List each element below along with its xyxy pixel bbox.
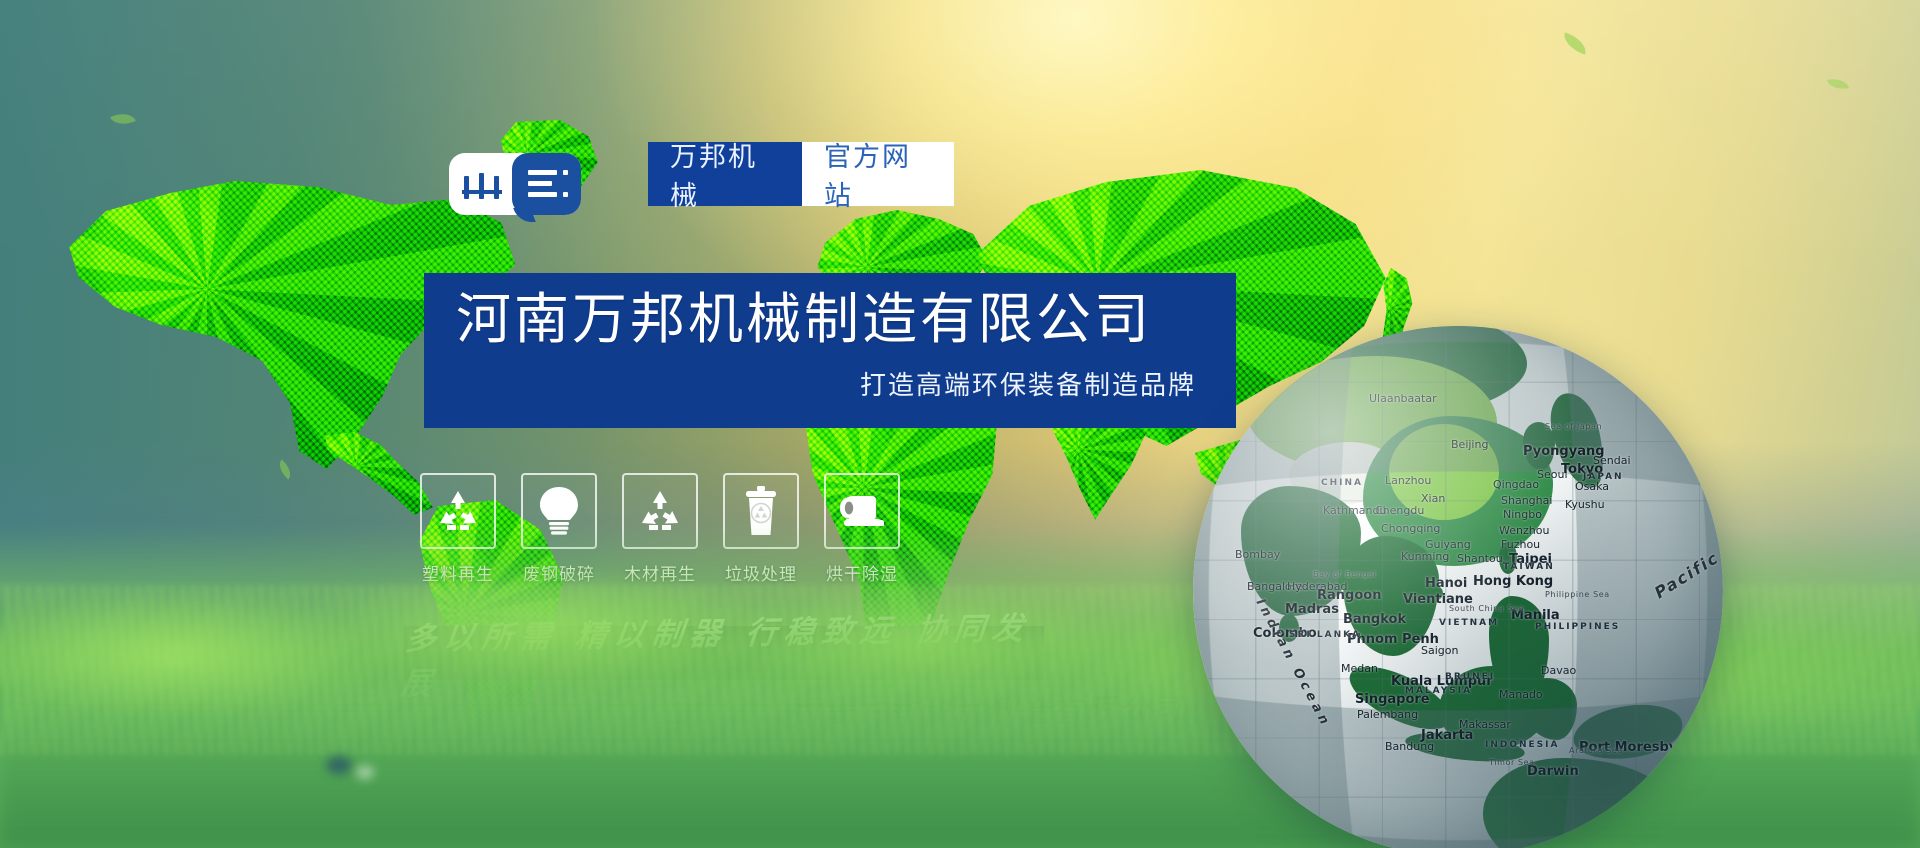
globe-city-label: Fuzhou <box>1501 538 1540 551</box>
logo-w-icon <box>462 172 502 199</box>
globe-country-label: CHINA <box>1321 478 1363 488</box>
globe-sea-label: Arafura Sea <box>1569 746 1623 755</box>
globe-city-label: Shanghai <box>1501 494 1552 507</box>
globe-country-label: SRI LANKA <box>1289 630 1361 640</box>
globe-city-label: Lanzhou <box>1385 474 1431 487</box>
globe-country-label: TAIWAN <box>1503 562 1555 572</box>
globe-city-label: Xian <box>1421 492 1445 505</box>
bokeh-dot <box>356 766 374 779</box>
globe-city-label: Hanoi <box>1425 576 1467 591</box>
globe-sea-label: Timor Sea <box>1489 758 1535 767</box>
globe-city-label: Madras <box>1285 602 1339 617</box>
hero-banner: 万邦机械 官方网站 河南万邦机械制造有限公司 打造高端环保装备制造品牌 <box>0 0 1920 848</box>
globe-city-label: Bombay <box>1235 548 1280 561</box>
tab-company-name[interactable]: 万邦机械 <box>648 142 802 206</box>
globe-country-label: MALAYSIA <box>1405 686 1472 696</box>
brand-tabs: 万邦机械 官方网站 <box>648 142 954 206</box>
globe-city-label: Ulaanbaatar <box>1369 392 1437 405</box>
globe-country-label: JAPAN <box>1583 472 1624 482</box>
globe-city-label: Beijing <box>1451 438 1488 451</box>
page-subtitle: 打造高端环保装备制造品牌 <box>860 365 1202 402</box>
globe-sea-label: Sea of Japan <box>1545 422 1602 431</box>
globe-city-label: Wenzhou <box>1499 524 1549 537</box>
globe-city-label: Kyushu <box>1565 498 1605 511</box>
globe-city-label: Palembang <box>1357 708 1418 721</box>
globe-city-label: Davao <box>1541 664 1576 677</box>
logo-speech-bubble-icon <box>512 153 581 215</box>
tab-official-website[interactable]: 官方网站 <box>802 142 954 206</box>
globe-country-label: VIETNAM <box>1439 618 1499 628</box>
globe-city-label: Chongqing <box>1381 522 1440 535</box>
logo-e-icon <box>528 170 568 198</box>
globe-city-label: Guiyang <box>1425 538 1471 551</box>
globe-city-label: Bandung <box>1385 740 1434 753</box>
globe-city-label: Hong Kong <box>1473 574 1553 589</box>
globe-city-label: Ningbo <box>1503 508 1542 521</box>
globe-city-label: Kathmandu <box>1323 504 1386 517</box>
globe-city-label: Bangkok <box>1343 612 1406 627</box>
globe-sea-label: Philippine Sea <box>1545 590 1610 599</box>
globe-sea-label: Bay of Bengal <box>1313 570 1376 579</box>
globe-sphere: Ulaanbaatar Beijing Lanzhou Xian Chengdu… <box>1193 326 1723 848</box>
globe-country-label: PHILIPPINES <box>1535 622 1620 632</box>
hero-title-banner: 河南万邦机械制造有限公司 打造高端环保装备制造品牌 <box>424 273 1236 428</box>
bokeh-dot <box>326 756 352 774</box>
page-title: 河南万邦机械制造有限公司 <box>424 291 1152 349</box>
globe-city-label: Kunming <box>1401 550 1449 563</box>
globe-sea-label: South China Sea <box>1449 604 1524 613</box>
globe-city-label: Manado <box>1499 688 1543 701</box>
globe-city-label: Rangoon <box>1317 588 1381 603</box>
globe-graphic: Ulaanbaatar Beijing Lanzhou Xian Chengdu… <box>1193 326 1723 848</box>
globe-city-label: Makassar <box>1459 718 1511 731</box>
globe-city-label: Saigon <box>1421 644 1458 657</box>
globe-city-label: Sendai <box>1593 454 1631 467</box>
globe-city-label: Qingdao <box>1493 478 1539 491</box>
globe-country-label: INDONESIA <box>1485 740 1559 750</box>
globe-city-label: Medan <box>1341 662 1378 675</box>
globe-country-label: BRUNEI <box>1445 672 1495 682</box>
brand-logo[interactable] <box>449 153 581 215</box>
globe-city-label: Shantou <box>1457 552 1503 565</box>
